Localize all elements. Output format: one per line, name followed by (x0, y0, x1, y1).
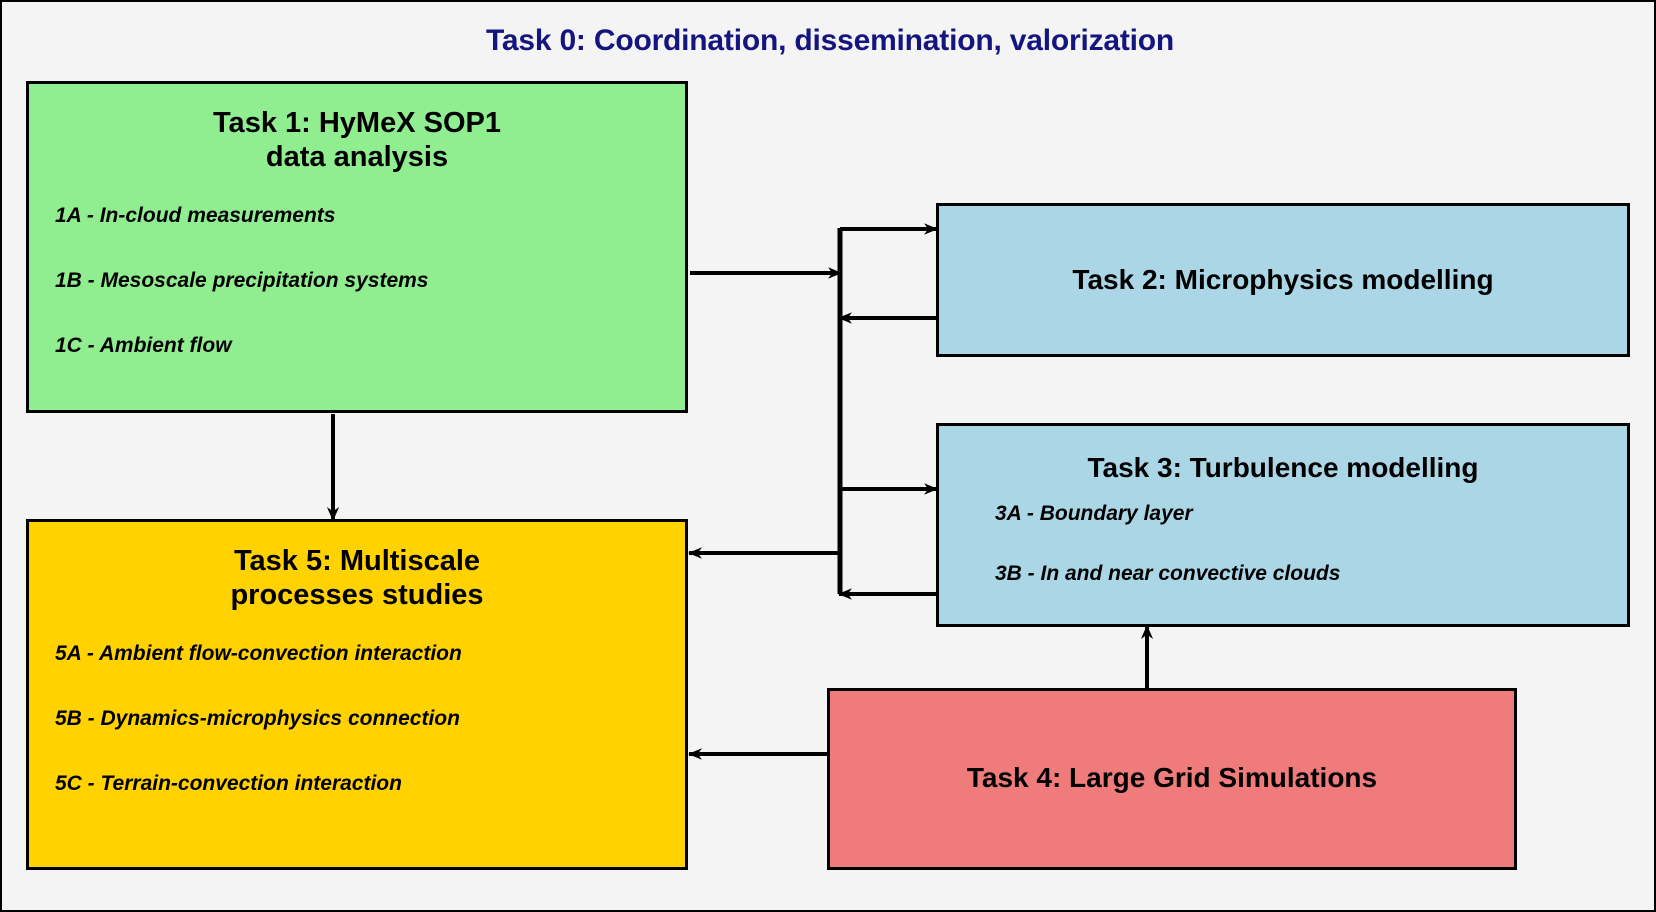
task5-subitem-list: 5A - Ambient flow-convection interaction… (29, 642, 685, 796)
task3-subitem-3a: 3A - Boundary layer (995, 502, 1627, 526)
task-box-task3[interactable]: Task 3: Turbulence modelling 3A - Bounda… (936, 423, 1630, 627)
task5-subitem-5c: 5C - Terrain-convection interaction (55, 772, 685, 796)
task3-title: Task 3: Turbulence modelling (939, 426, 1627, 484)
task1-subitem-list: 1A - In-cloud measurements 1B - Mesoscal… (29, 204, 685, 358)
task2-title: Task 2: Microphysics modelling (939, 206, 1627, 296)
task-box-task2[interactable]: Task 2: Microphysics modelling (936, 203, 1630, 357)
task1-subitem-1b: 1B - Mesoscale precipitation systems (55, 269, 685, 293)
task3-subitem-list: 3A - Boundary layer 3B - In and near con… (939, 502, 1627, 586)
task-box-task1[interactable]: Task 1: HyMeX SOP1 data analysis 1A - In… (26, 81, 688, 413)
task-box-task4[interactable]: Task 4: Large Grid Simulations (827, 688, 1517, 870)
task5-subitem-5b: 5B - Dynamics-microphysics connection (55, 707, 685, 731)
task1-title: Task 1: HyMeX SOP1 data analysis (29, 84, 685, 174)
task5-title: Task 5: Multiscale processes studies (29, 522, 685, 612)
task4-title: Task 4: Large Grid Simulations (830, 691, 1514, 794)
task-box-task5[interactable]: Task 5: Multiscale processes studies 5A … (26, 519, 688, 870)
page-title: Task 0: Coordination, dissemination, val… (2, 24, 1656, 58)
task3-subitem-3b: 3B - In and near convective clouds (995, 562, 1627, 586)
task1-subitem-1c: 1C - Ambient flow (55, 334, 685, 358)
diagram-canvas: Task 0: Coordination, dissemination, val… (0, 0, 1656, 912)
task5-subitem-5a: 5A - Ambient flow-convection interaction (55, 642, 685, 666)
task1-subitem-1a: 1A - In-cloud measurements (55, 204, 685, 228)
